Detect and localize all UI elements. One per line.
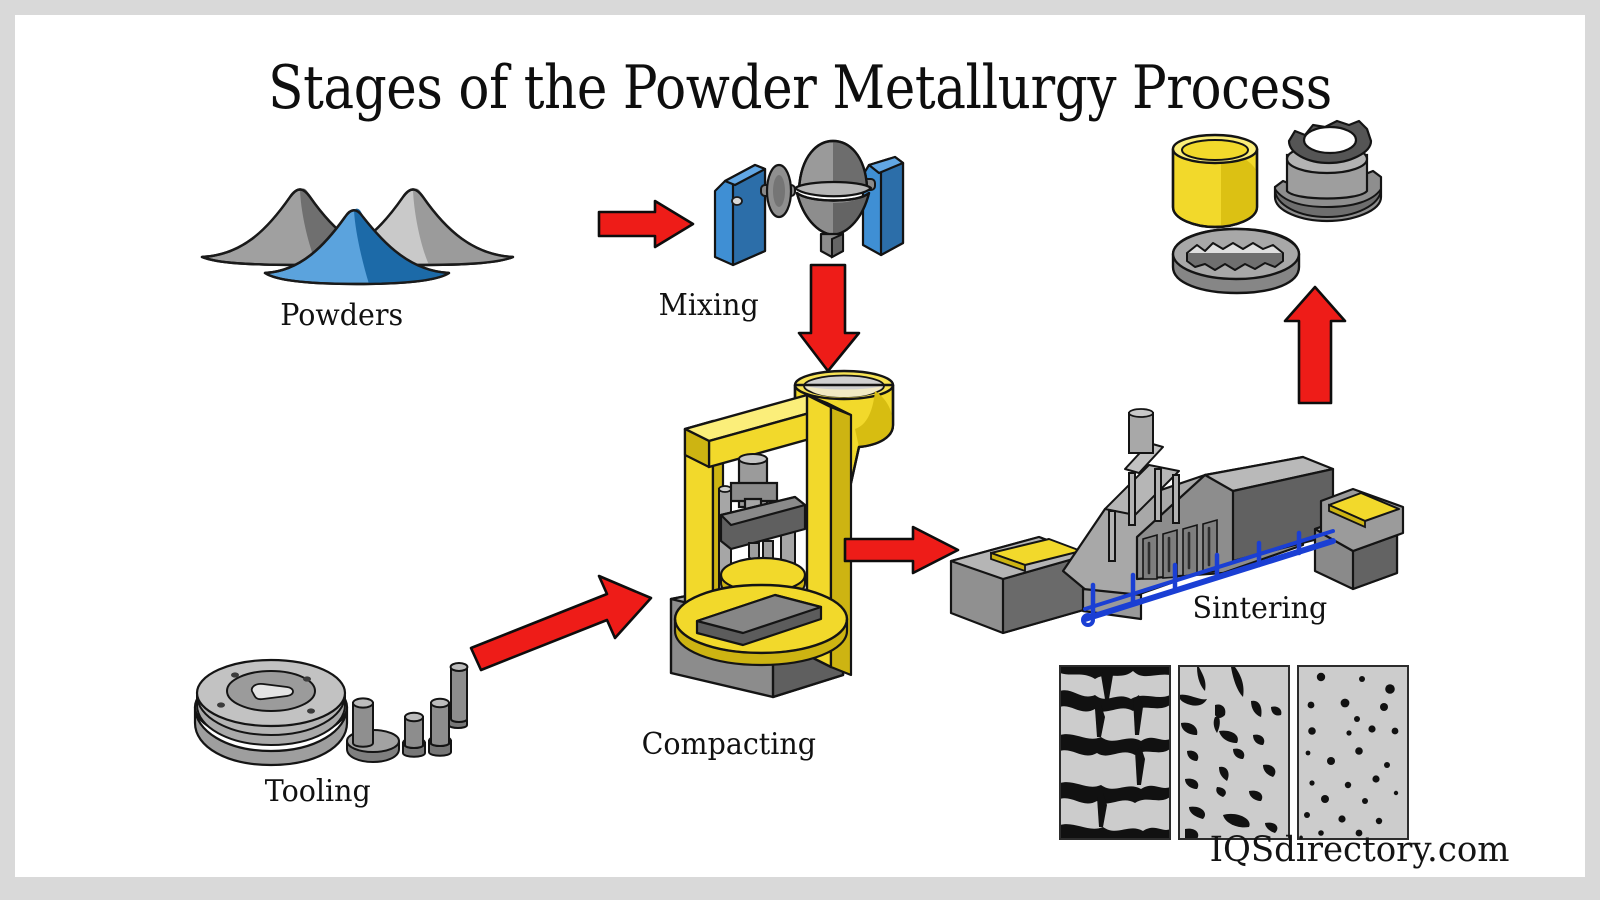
- arrow-sintering-to-parts: [1281, 285, 1351, 407]
- microstructure-panels: [1059, 665, 1409, 840]
- partial-sintering-panel: [1179, 666, 1289, 839]
- watermark-text: IQSdirectory.com: [1210, 830, 1510, 870]
- diagram-root: Stages of the Powder Metallurgy Process …: [0, 0, 1600, 900]
- diagram-canvas: Stages of the Powder Metallurgy Process …: [15, 15, 1585, 877]
- arrow-mixing-to-compacting: [797, 263, 867, 375]
- page-title: Stages of the Powder Metallurgy Process: [125, 53, 1475, 123]
- finished-parts-illustration: [1143, 115, 1403, 295]
- sintering-illustration: [933, 413, 1413, 643]
- mixing-illustration: [703, 133, 915, 273]
- stage-label-tooling: Tooling: [265, 774, 371, 809]
- stage-label-mixing: Mixing: [659, 288, 759, 323]
- tooling-illustration: [187, 655, 467, 770]
- stage-label-sintering: Sintering: [1193, 591, 1328, 626]
- dense-sintered-panel: [1298, 666, 1408, 839]
- arrow-powders-to-mixing: [597, 198, 697, 250]
- powders-illustration: [197, 175, 517, 290]
- stage-label-compacting: Compacting: [642, 727, 816, 762]
- loose-particles-panel: [1060, 665, 1170, 839]
- stage-label-powders: Powders: [280, 298, 403, 333]
